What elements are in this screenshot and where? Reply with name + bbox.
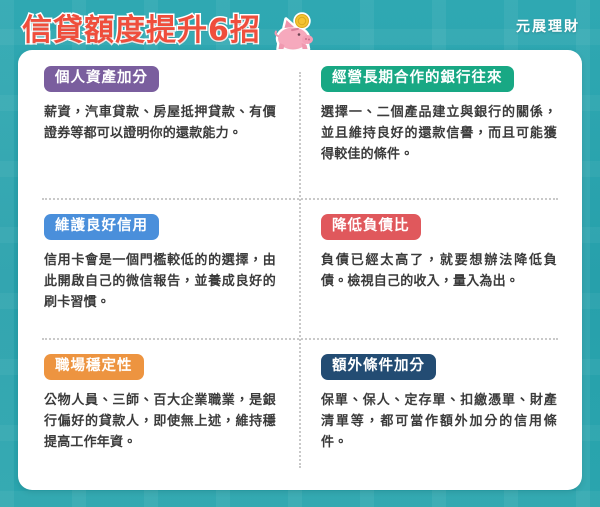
page-title: 信貸額度提升6招: [22, 16, 261, 46]
tip-card-personal-assets: 個人資產加分 薪資，汽車貸款、房屋抵押貸款、有價證券等都可以證明你的還款能力。: [18, 50, 299, 198]
tips-grid: 個人資產加分 薪資，汽車貸款、房屋抵押貸款、有價證券等都可以證明你的還款能力。 …: [18, 50, 582, 490]
tip-body: 保單、保人、定存單、扣繳憑單、財產清單等，都可當作額外加分的信用條件。: [321, 390, 557, 453]
piggy-bank-icon: [271, 11, 317, 53]
tip-card-good-credit: 維護良好信用 信用卡會是一個門檻較低的的選擇，由此開啟自己的微信報告，並養成良好…: [18, 198, 299, 338]
content-panel: 個人資產加分 薪資，汽車貸款、房屋抵押貸款、有價證券等都可以證明你的還款能力。 …: [18, 50, 582, 490]
tip-card-job-stability: 職場穩定性 公物人員、三師、百大企業職業，是銀行偏好的貸款人，即使無上述，維持穩…: [18, 338, 299, 490]
infographic-root: 信貸額度提升6招: [0, 0, 600, 507]
tip-body: 薪資，汽車貸款、房屋抵押貸款、有價證券等都可以證明你的還款能力。: [44, 102, 276, 144]
tip-badge: 經營長期合作的銀行往來: [321, 66, 514, 92]
tip-card-bank-relationship: 經營長期合作的銀行往來 選擇一、二個產品建立與銀行的關係，並且維持良好的還款信譽…: [299, 50, 582, 198]
tip-body: 公物人員、三師、百大企業職業，是銀行偏好的貸款人，即使無上述，維持穩提高工作年資…: [44, 390, 276, 453]
tip-badge: 降低負債比: [321, 214, 421, 240]
tip-badge: 職場穩定性: [44, 354, 144, 380]
title-block: 信貸額度提升6招: [22, 9, 317, 53]
tip-card-lower-debt-ratio: 降低負債比 負債已經太高了，就要想辦法降低負債。檢視自己的收入，量入為出。: [299, 198, 582, 338]
brand-logo: 元展理財: [516, 16, 580, 36]
tip-card-extra-conditions: 額外條件加分 保單、保人、定存單、扣繳憑單、財產清單等，都可當作額外加分的信用條…: [299, 338, 582, 490]
tip-body: 信用卡會是一個門檻較低的的選擇，由此開啟自己的微信報告，並養成良好的刷卡習慣。: [44, 250, 276, 313]
tip-badge: 個人資產加分: [44, 66, 159, 92]
tip-body: 負債已經太高了，就要想辦法降低負債。檢視自己的收入，量入為出。: [321, 250, 557, 292]
tip-badge: 維護良好信用: [44, 214, 159, 240]
tip-badge: 額外條件加分: [321, 354, 436, 380]
tip-body: 選擇一、二個產品建立與銀行的關係，並且維持良好的還款信譽，而且可能獲得較佳的條件…: [321, 102, 557, 165]
